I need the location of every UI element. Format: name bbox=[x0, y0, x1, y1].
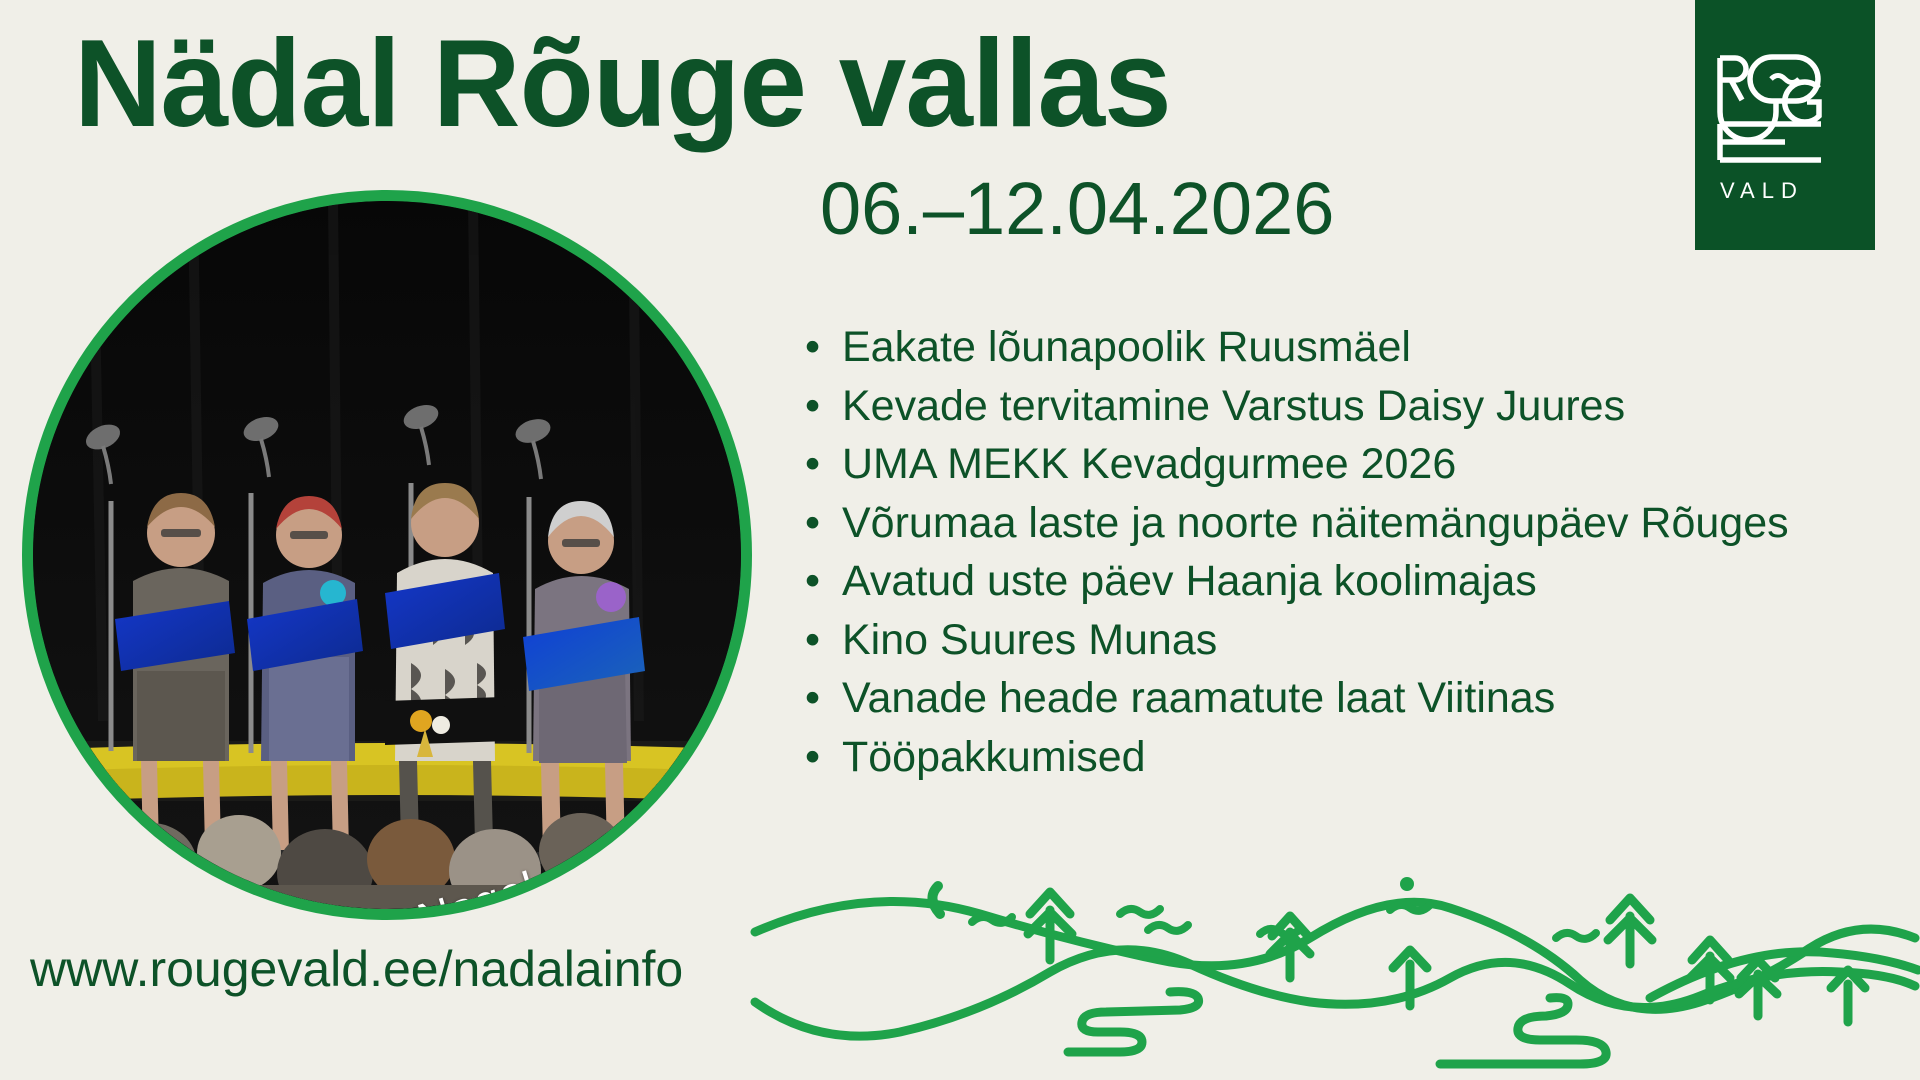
event-label: Vanade heade raamatute laat Viitinas bbox=[842, 669, 1885, 727]
poster-canvas: Nädal Rõuge vallas 06.–12.04.2026 bbox=[0, 0, 1920, 1080]
event-label: Tööpakkumised bbox=[842, 728, 1885, 786]
list-item: • UMA MEKK Kevadgurmee 2026 bbox=[805, 435, 1885, 493]
rouge-vald-logo: VALD bbox=[1695, 0, 1875, 250]
list-item: • Kino Suures Munas bbox=[805, 611, 1885, 669]
bullet-icon: • bbox=[805, 494, 842, 552]
bullet-icon: • bbox=[805, 377, 842, 435]
list-item: • Tööpakkumised bbox=[805, 728, 1885, 786]
list-item: • Vanade heade raamatute laat Viitinas bbox=[805, 669, 1885, 727]
event-label: Eakate lõunapoolik Ruusmäel bbox=[842, 318, 1885, 376]
photo-circle: Foto: Viivika Nagel bbox=[22, 190, 752, 920]
bullet-icon: • bbox=[805, 669, 842, 727]
list-item: • Avatud uste päev Haanja koolimajas bbox=[805, 552, 1885, 610]
landscape-illustration bbox=[750, 852, 1920, 1080]
logo-subtitle: VALD bbox=[1720, 178, 1804, 203]
stage-photo bbox=[33, 201, 741, 909]
events-list: • Eakate lõunapoolik Ruusmäel • Kevade t… bbox=[805, 318, 1885, 786]
bullet-icon: • bbox=[805, 318, 842, 376]
page-title: Nädal Rõuge vallas bbox=[74, 22, 1171, 146]
bullet-icon: • bbox=[805, 611, 842, 669]
bullet-icon: • bbox=[805, 435, 842, 493]
event-label: Kevade tervitamine Varstus Daisy Juures bbox=[842, 377, 1885, 435]
date-range: 06.–12.04.2026 bbox=[820, 172, 1334, 246]
event-label: Avatud uste päev Haanja koolimajas bbox=[842, 552, 1885, 610]
list-item: • Kevade tervitamine Varstus Daisy Juure… bbox=[805, 377, 1885, 435]
website-url[interactable]: www.rougevald.ee/nadalainfo bbox=[30, 944, 683, 994]
event-label: Kino Suures Munas bbox=[842, 611, 1885, 669]
event-label: Võrumaa laste ja noorte näitemängupäev R… bbox=[842, 494, 1885, 552]
event-label: UMA MEKK Kevadgurmee 2026 bbox=[842, 435, 1885, 493]
list-item: • Eakate lõunapoolik Ruusmäel bbox=[805, 318, 1885, 376]
bullet-icon: • bbox=[805, 728, 842, 786]
list-item: • Võrumaa laste ja noorte näitemängupäev… bbox=[805, 494, 1885, 552]
bullet-icon: • bbox=[805, 552, 842, 610]
